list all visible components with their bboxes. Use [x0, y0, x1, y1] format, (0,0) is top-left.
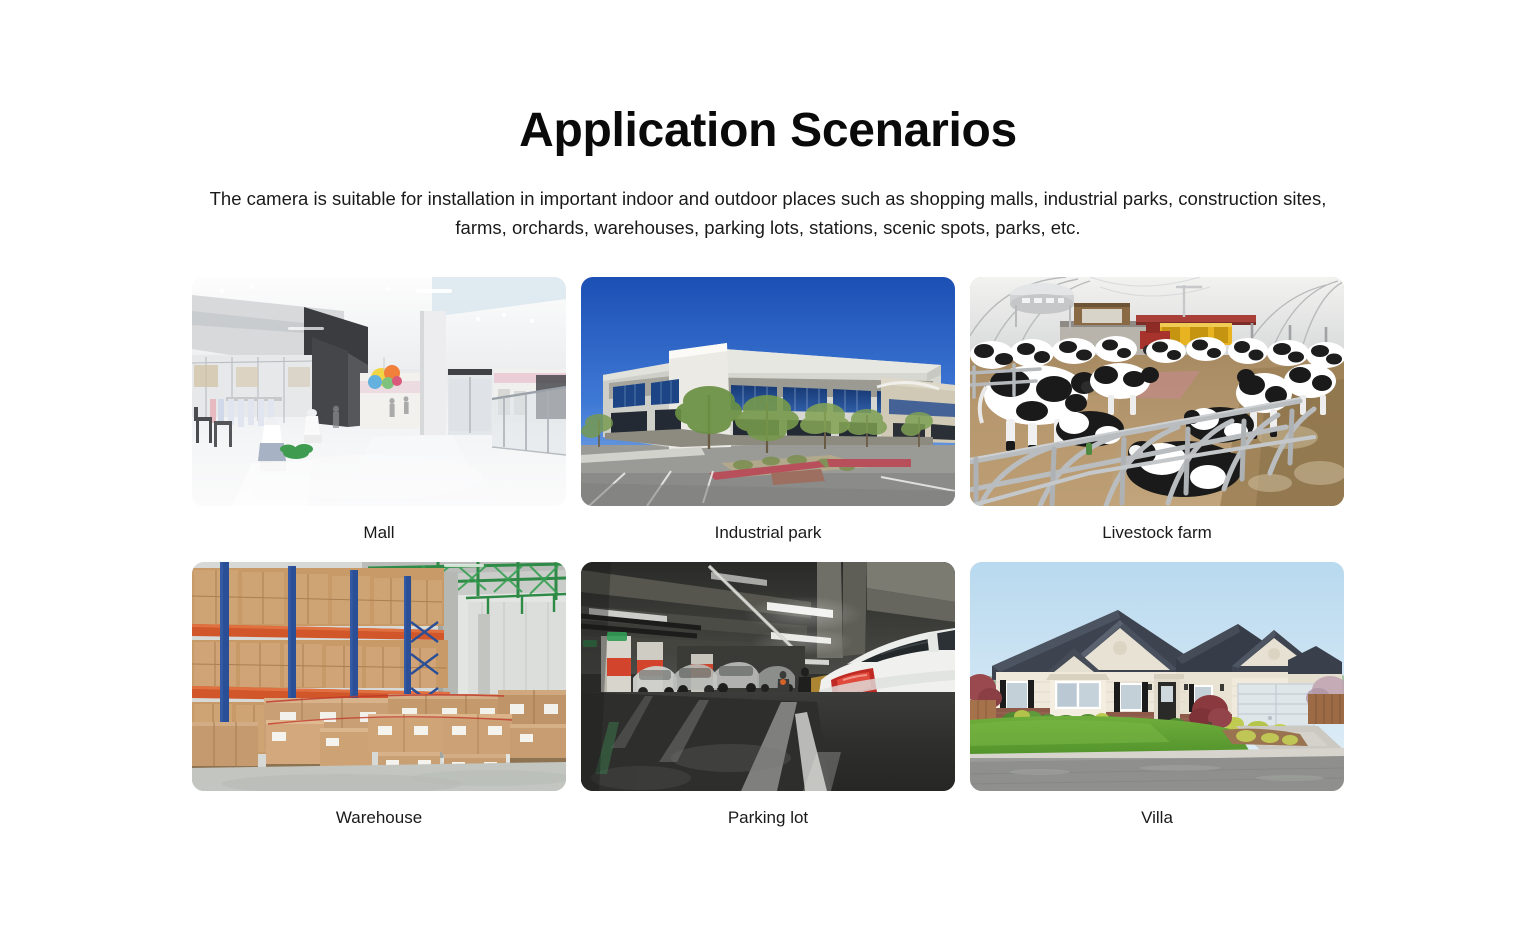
scenario-grid: Mall	[186, 242, 1350, 837]
scenario-card-warehouse[interactable]: Warehouse	[192, 562, 566, 837]
mall-interior-photo	[192, 277, 566, 506]
scenario-card-villa[interactable]: Villa	[970, 562, 1344, 837]
scenario-card-parking-lot[interactable]: Parking lot	[581, 562, 955, 837]
scenario-label: Parking lot	[728, 805, 808, 837]
page-title: Application Scenarios	[0, 103, 1536, 160]
scenario-label: Warehouse	[336, 805, 422, 837]
page-header: Application Scenarios The camera is suit…	[0, 0, 1536, 242]
scenario-label: Industrial park	[715, 520, 822, 552]
scenario-card-industrial-park[interactable]: Industrial park	[581, 277, 955, 552]
livestock-dairy-barn-photo	[970, 277, 1344, 506]
scenario-card-livestock-farm[interactable]: Livestock farm	[970, 277, 1344, 552]
industrial-park-office-building-photo	[581, 277, 955, 506]
scenario-card-mall[interactable]: Mall	[192, 277, 566, 552]
warehouse-racking-photo	[192, 562, 566, 791]
page-subtitle: The camera is suitable for installation …	[193, 184, 1343, 242]
application-scenarios-page: Application Scenarios The camera is suit…	[0, 0, 1536, 929]
underground-parking-garage-photo	[581, 562, 955, 791]
scenario-label: Mall	[363, 520, 394, 552]
scenario-label: Livestock farm	[1102, 520, 1212, 552]
suburban-villa-house-photo	[970, 562, 1344, 791]
scenario-label: Villa	[1141, 805, 1173, 837]
